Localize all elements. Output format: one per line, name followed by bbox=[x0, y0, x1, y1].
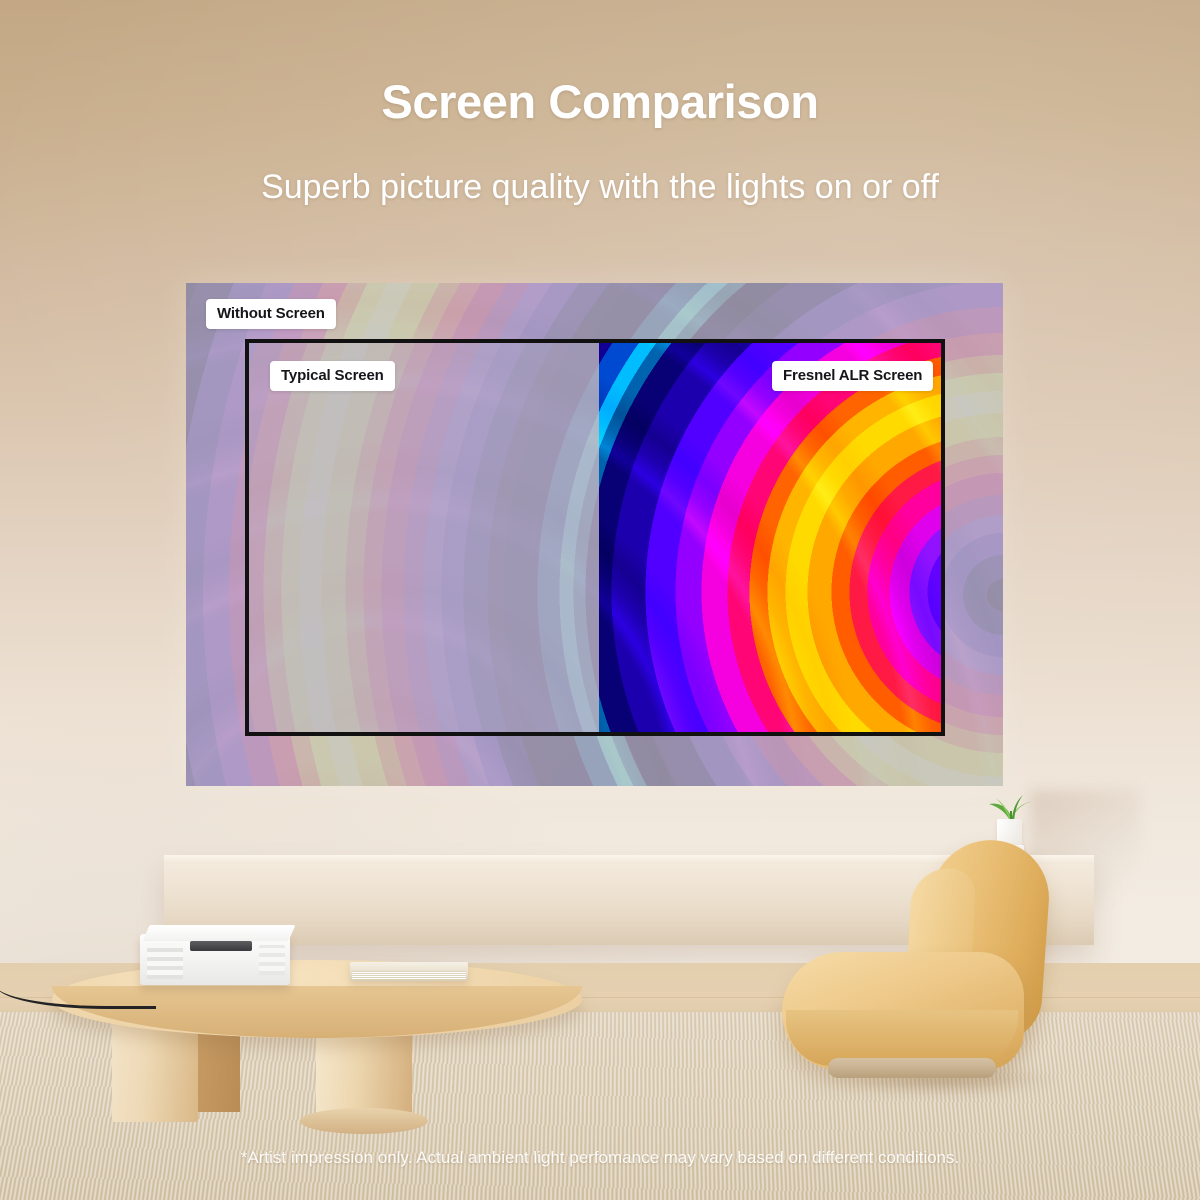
page-title: Screen Comparison bbox=[0, 74, 1200, 129]
typical-screen-image bbox=[249, 343, 599, 732]
fresnel-artwork-vivid bbox=[599, 343, 941, 732]
projector-lens-strip bbox=[190, 941, 252, 951]
room-scene: Screen Comparison Superb picture quality… bbox=[0, 0, 1200, 1200]
projector-vent-left bbox=[147, 943, 183, 979]
page-subtitle: Superb picture quality with the lights o… bbox=[0, 168, 1200, 207]
arc-band-sheen bbox=[599, 343, 941, 732]
label-without-screen: Without Screen bbox=[206, 299, 336, 329]
label-typical-screen: Typical Screen bbox=[270, 361, 395, 391]
lounge-chair bbox=[780, 840, 1110, 1105]
typical-screen-half bbox=[249, 343, 599, 732]
typical-artwork-faded bbox=[249, 343, 599, 732]
footnote-disclaimer: *Artist impression only. Actual ambient … bbox=[0, 1148, 1200, 1168]
label-fresnel-alr-screen: Fresnel ALR Screen bbox=[772, 361, 933, 391]
chair-base-plinth bbox=[828, 1058, 996, 1078]
arc-band-sheen bbox=[249, 343, 599, 732]
fresnel-alr-screen-half bbox=[599, 343, 941, 732]
projector-device bbox=[140, 925, 292, 985]
projector-top-lid bbox=[142, 925, 295, 941]
arc-band-artwork bbox=[249, 343, 599, 732]
projection-screen-frame bbox=[245, 339, 945, 736]
table-leg-right-base bbox=[300, 1108, 428, 1134]
projector-vent-right bbox=[259, 945, 285, 975]
table-book bbox=[350, 962, 468, 981]
fresnel-screen-image bbox=[599, 343, 941, 732]
book-pages bbox=[352, 971, 466, 979]
